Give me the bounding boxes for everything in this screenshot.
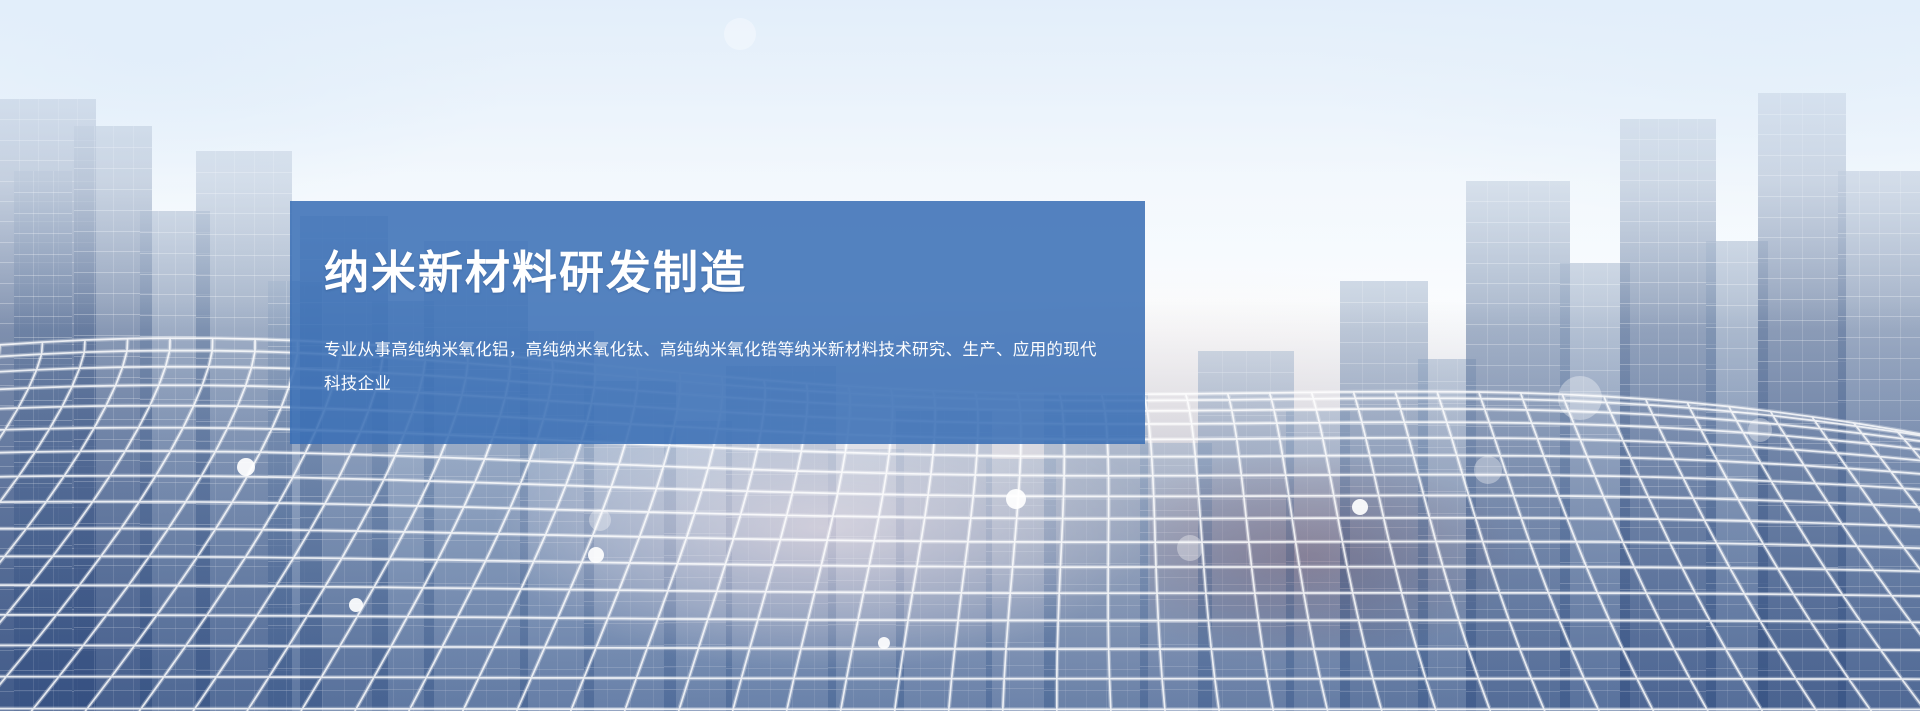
bokeh-particle — [1177, 535, 1203, 561]
mesh-node-dot — [1352, 499, 1368, 515]
bokeh-particle — [724, 18, 756, 50]
bokeh-particle — [1474, 456, 1502, 484]
mesh-node-dot — [237, 458, 255, 476]
mesh-node-dot — [878, 637, 890, 649]
bokeh-particle — [1748, 418, 1772, 442]
hero-text-card: 纳米新材料研发制造 专业从事高纯纳米氧化铝，高纯纳米氧化钛、高纯纳米氧化锆等纳米… — [290, 201, 1145, 444]
bokeh-particle — [589, 509, 611, 531]
page-title: 纳米新材料研发制造 — [324, 249, 1111, 296]
mesh-node-dot — [588, 547, 604, 563]
mesh-node-dot — [349, 598, 363, 612]
mesh-node-dot — [1006, 489, 1026, 509]
hero-banner: 纳米新材料研发制造 专业从事高纯纳米氧化铝，高纯纳米氧化钛、高纯纳米氧化锆等纳米… — [0, 0, 1920, 711]
page-subtitle: 专业从事高纯纳米氧化铝，高纯纳米氧化钛、高纯纳米氧化锆等纳米新材料技术研究、生产… — [324, 333, 1111, 401]
bokeh-particle — [1558, 376, 1602, 420]
